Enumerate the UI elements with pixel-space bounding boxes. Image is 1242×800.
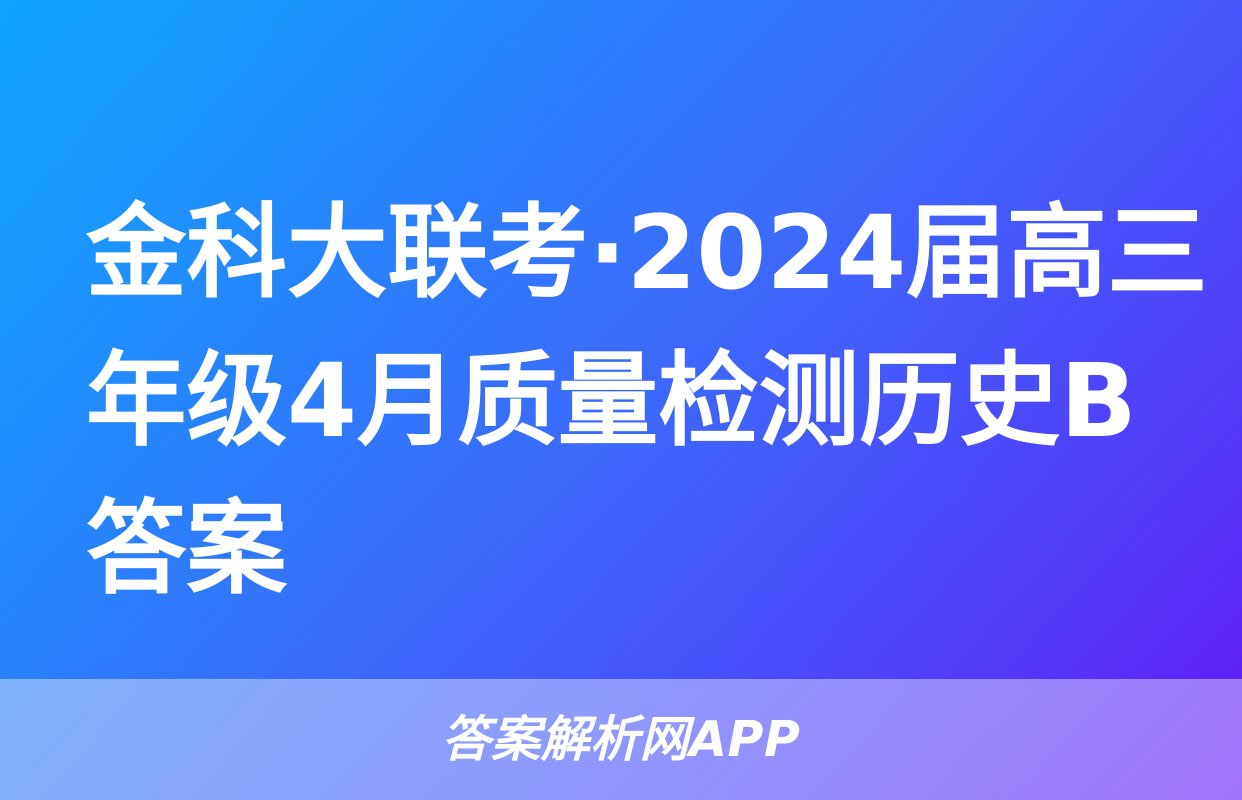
answer-cover-poster: 金科大联考·2024届高三 年级4月质量检测历史B 答案 答案解析网APP — [0, 0, 1242, 800]
page-title: 金科大联考·2024届高三 年级4月质量检测历史B 答案 — [86, 180, 1161, 624]
app-watermark-label: 答案解析网APP — [442, 715, 801, 764]
title-line-3: 答案 — [86, 476, 1145, 624]
footer-watermark-band: 答案解析网APP — [0, 679, 1242, 800]
title-line-1: 金科大联考·2024届高三 — [86, 180, 1145, 328]
title-line-2: 年级4月质量检测历史B — [86, 328, 1145, 476]
